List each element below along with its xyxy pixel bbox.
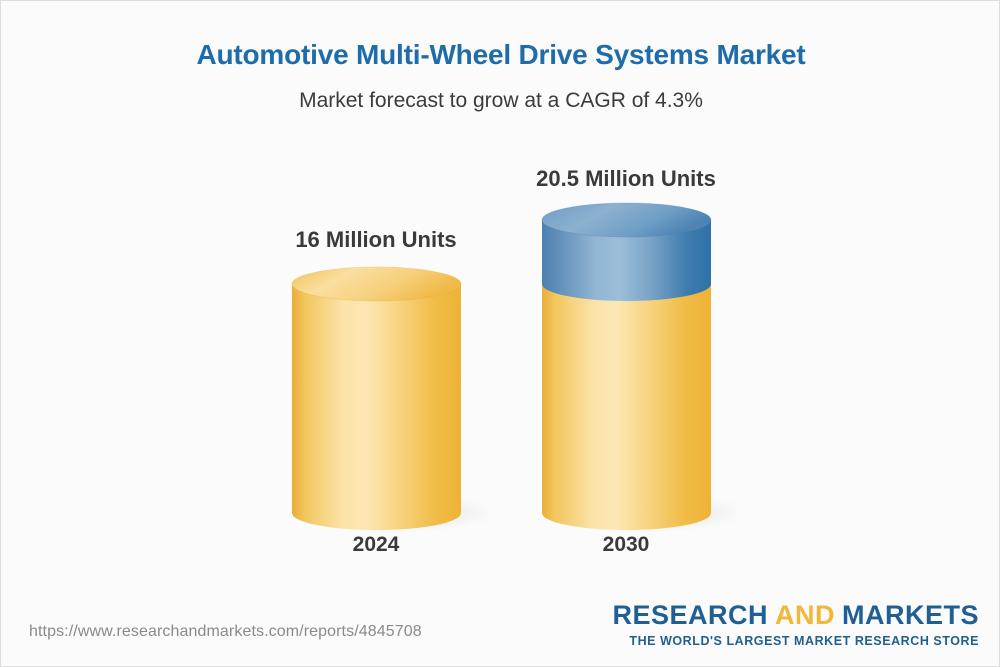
value-label-2024: 16 Million Units <box>206 227 546 253</box>
bar-body-base-2030 <box>542 284 711 530</box>
category-label-2030: 2030 <box>456 533 796 557</box>
research-and-markets-logo[interactable]: RESEARCHANDMARKETS THE WORLD'S LARGEST M… <box>612 602 979 648</box>
bar-body-2024 <box>292 284 461 530</box>
logo-tagline: THE WORLD'S LARGEST MARKET RESEARCH STOR… <box>612 635 979 648</box>
chart-card: Automotive Multi-Wheel Drive Systems Mar… <box>0 0 1000 667</box>
logo-wordmark: RESEARCHANDMARKETS <box>612 602 979 629</box>
report-url-link[interactable]: https://www.researchandmarkets.com/repor… <box>29 623 422 641</box>
value-label-2030: 20.5 Million Units <box>456 166 796 192</box>
logo-word-and: AND <box>775 600 835 630</box>
bar-2024[interactable] <box>291 267 511 535</box>
logo-word-research: RESEARCH <box>612 600 768 630</box>
bar-2030[interactable] <box>541 203 761 535</box>
chart-plot-area: 16 Million Units 20.5 Million Units 2024… <box>1 1 1000 601</box>
cylinder-bar-chart-svg <box>1 1 1000 601</box>
logo-word-markets: MARKETS <box>842 600 979 630</box>
